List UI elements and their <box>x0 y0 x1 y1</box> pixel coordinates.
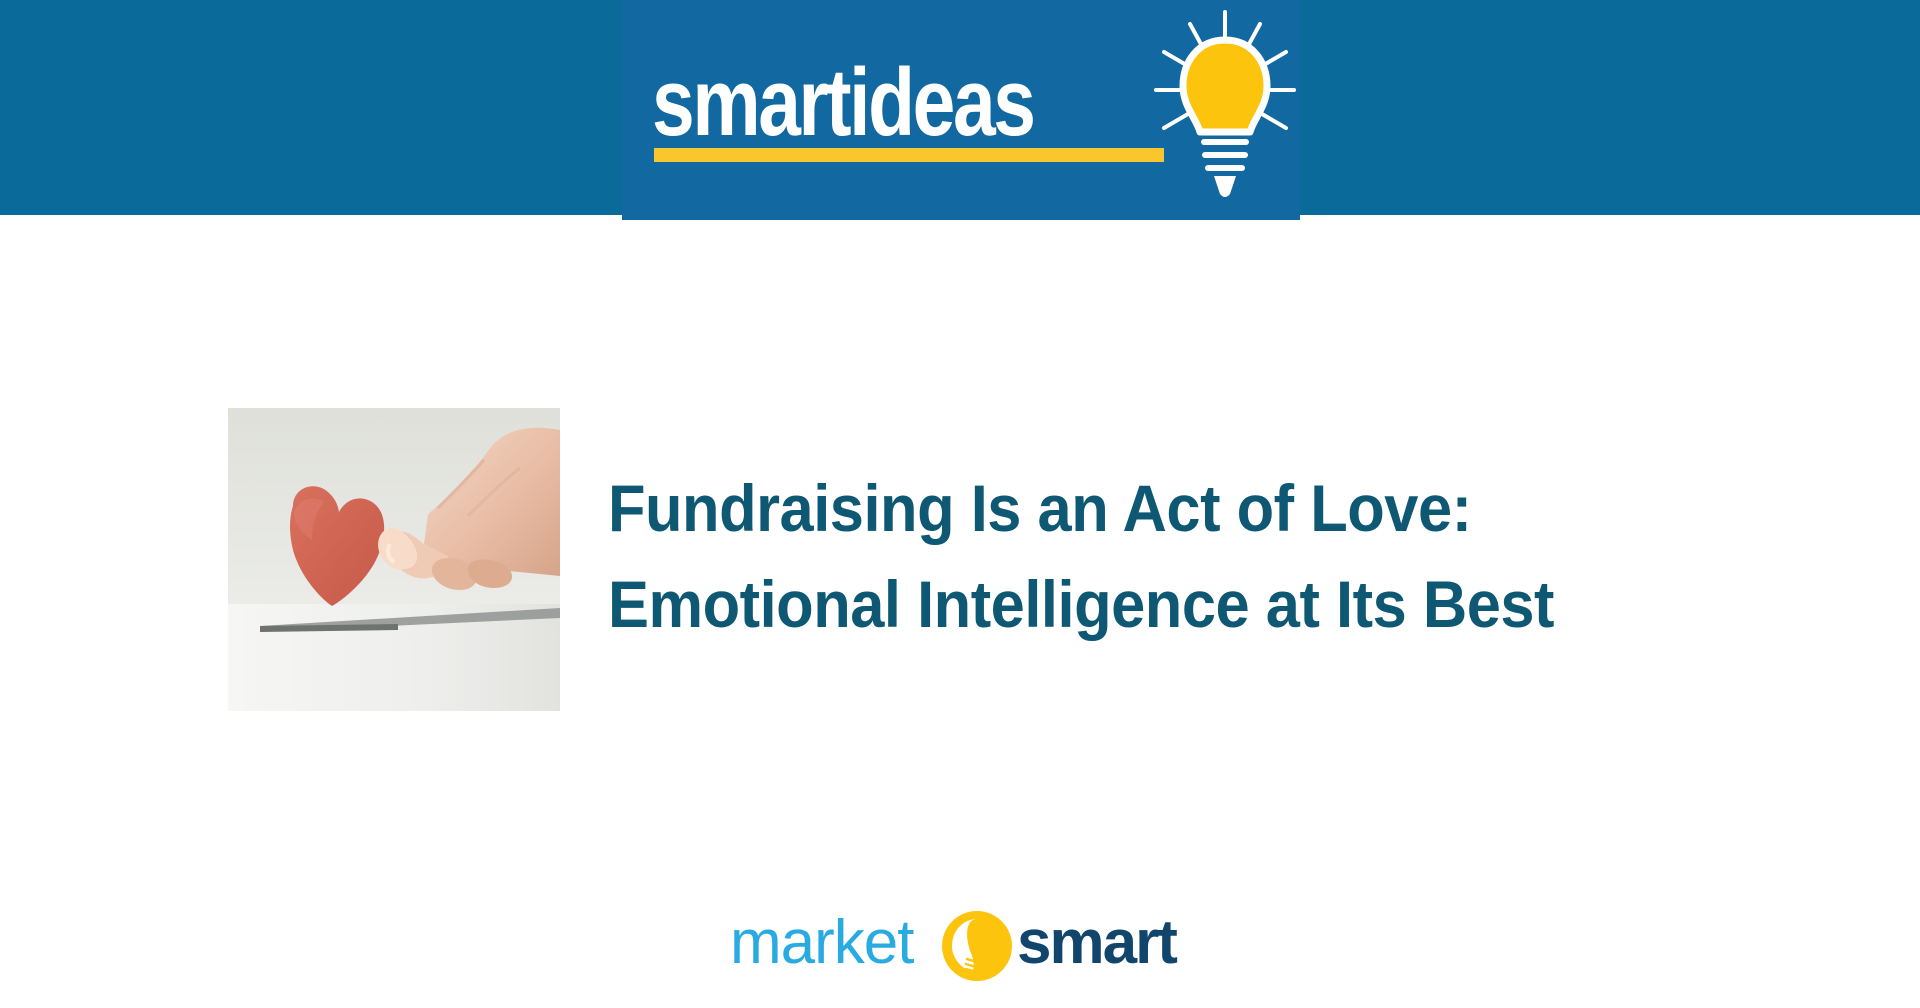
title-line-1: Fundraising Is an Act of Love: <box>608 460 1715 556</box>
smartideas-logo: smartideas <box>622 0 1300 220</box>
bulb-crescent-icon <box>940 909 1014 983</box>
smartideas-wordmark: smartideas <box>652 48 1084 158</box>
main-content: Fundraising Is an Act of Love: Emotional… <box>0 215 1920 1008</box>
marketsmart-word-smart: smart <box>1017 907 1176 979</box>
marketsmart-logo[interactable]: market smart <box>730 903 1190 983</box>
brand-underline-accent <box>654 148 1164 162</box>
title-line-2: Emotional Intelligence at Its Best <box>608 556 1715 652</box>
article-title: Fundraising Is an Act of Love: Emotional… <box>608 460 1798 652</box>
lightbulb-icon <box>1150 6 1300 206</box>
marketsmart-word-market: market <box>730 907 913 979</box>
smartideas-logo-box[interactable]: smartideas <box>622 0 1300 220</box>
slide-page: smartideas <box>0 0 1920 1008</box>
article-thumbnail[interactable] <box>228 408 560 711</box>
hand-holding-heart-image <box>228 408 560 711</box>
header-band: smartideas <box>0 0 1920 215</box>
